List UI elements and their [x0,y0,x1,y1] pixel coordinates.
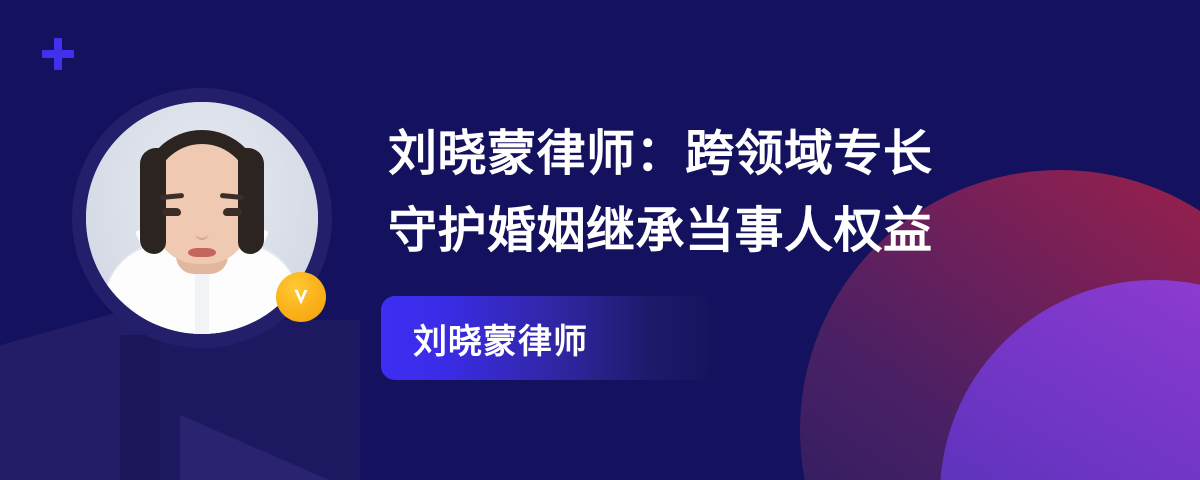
verified-badge-icon [276,272,326,322]
decorative-polygon-accent [120,335,200,480]
decorative-polygon-right [180,395,340,480]
lawyer-name-button[interactable]: 刘晓蒙律师 [381,296,711,380]
headline-line-1: 刘晓蒙律师：跨领域专长 [388,116,1088,193]
headline-block: 刘晓蒙律师：跨领域专长 守护婚姻继承当事人权益 [388,116,1088,270]
portrait-eye-right [223,208,242,216]
avatar [72,88,332,348]
plus-icon [42,38,74,70]
portrait-nose [196,224,209,240]
portrait-eye-left [162,208,181,216]
portrait-mouth [188,248,216,257]
decorative-circle-purple [940,280,1200,480]
lawyer-profile-banner: 刘晓蒙律师：跨领域专长 守护婚姻继承当事人权益 刘晓蒙律师 [0,0,1200,480]
portrait-hair-left [140,148,166,254]
page-title: 刘晓蒙律师：跨领域专长 守护婚姻继承当事人权益 [388,116,1088,270]
portrait-hair-right [238,148,264,254]
headline-line-2: 守护婚姻继承当事人权益 [388,193,1088,270]
